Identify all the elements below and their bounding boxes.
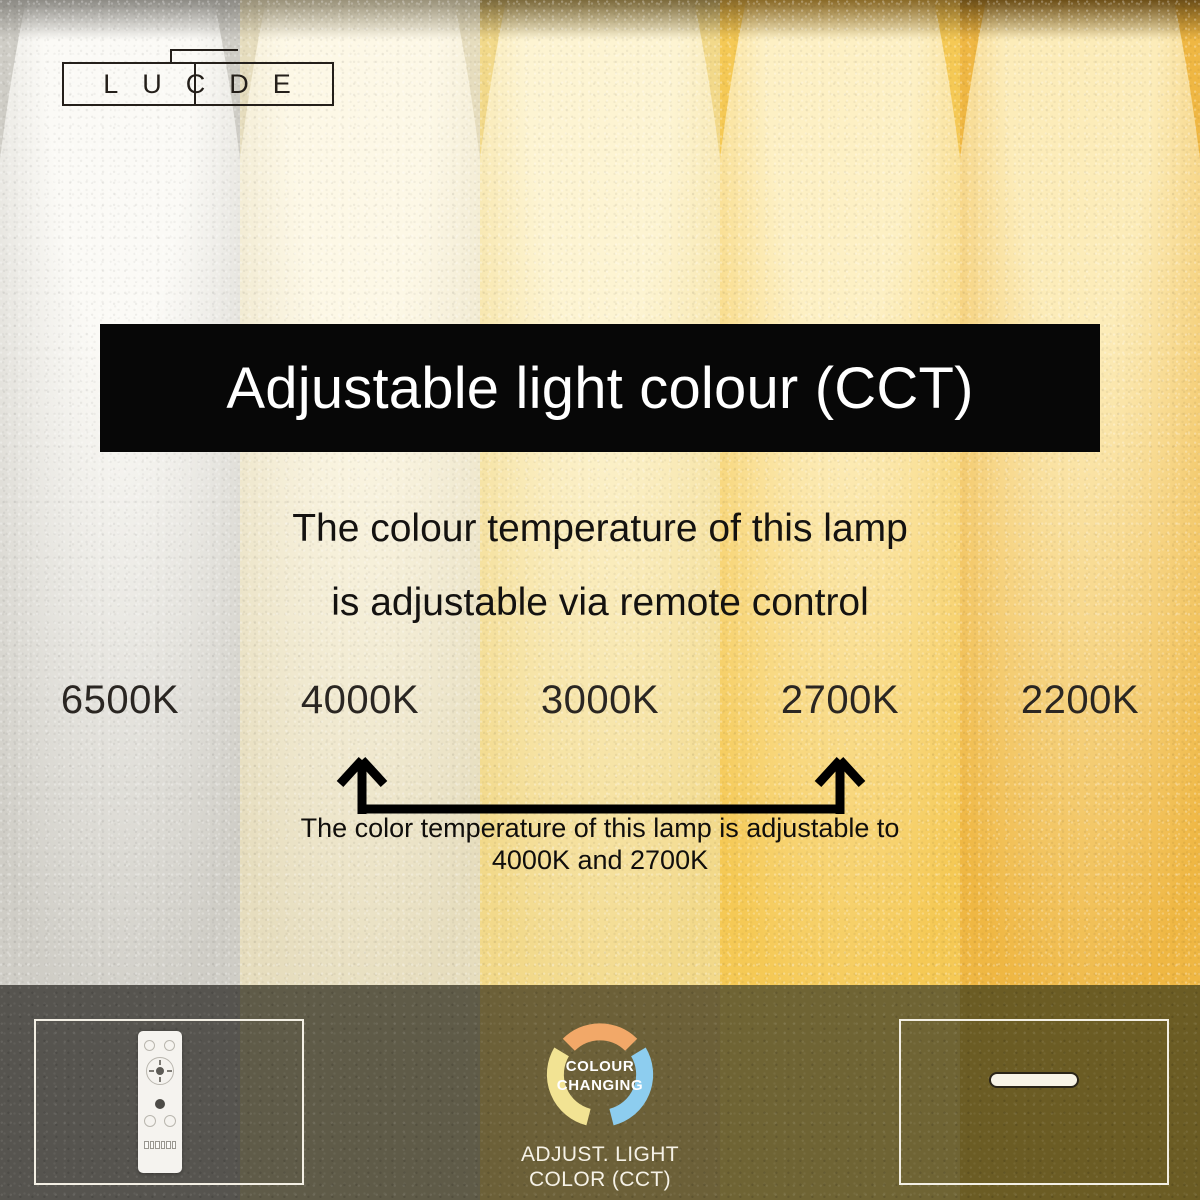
logo-letters: L U C D E — [62, 62, 334, 106]
remote-key — [155, 1141, 160, 1149]
remote-key — [172, 1141, 177, 1149]
kelvin-scale: 6500K 4000K 3000K 2700K 2200K — [0, 672, 1200, 728]
remote-key — [144, 1141, 149, 1149]
headline-banner: Adjustable light colour (CCT) — [100, 324, 1100, 452]
lucide-logo: L U C D E — [62, 62, 334, 106]
subtitle-line-1: The colour temperature of this lamp — [0, 492, 1200, 566]
kelvin-label-6500k: 6500K — [0, 672, 240, 728]
kelvin-label-4000k: 4000K — [240, 672, 480, 728]
remote-lower-right-button — [164, 1115, 176, 1127]
ring-text-line-2: CHANGING — [557, 1076, 643, 1095]
remote-mode-button — [164, 1040, 175, 1051]
page-title: Adjustable light colour (CCT) — [226, 355, 973, 422]
subtitle-block: The colour temperature of this lamp is a… — [0, 492, 1200, 640]
remote-plus-icon — [159, 1060, 161, 1065]
caption-block: The color temperature of this lamp is ad… — [0, 812, 1200, 876]
kelvin-label-2700k: 2700K — [720, 672, 960, 728]
logo-letter-l: L — [103, 69, 120, 100]
logo-letter-e: E — [273, 69, 293, 100]
remote-key — [166, 1141, 171, 1149]
logo-letter-d: D — [229, 69, 251, 100]
remote-key — [161, 1141, 166, 1149]
kelvin-label-2200k: 2200K — [960, 672, 1200, 728]
remote-control-icon — [138, 1031, 182, 1173]
caption-line-2: 4000K and 2700K — [0, 844, 1200, 876]
remote-right-icon — [167, 1070, 172, 1072]
remote-lower-left-button — [144, 1115, 156, 1127]
logo-letter-c: C — [186, 69, 208, 100]
ring-text-line-1: COLOUR — [566, 1057, 635, 1076]
subtitle-line-2: is adjustable via remote control — [0, 566, 1200, 640]
caption-line-1: The color temperature of this lamp is ad… — [0, 812, 1200, 844]
remote-power-button — [144, 1040, 155, 1051]
logo-letter-u: U — [142, 69, 164, 100]
remote-scene-button — [155, 1099, 165, 1109]
lamp-icon-panel — [899, 1019, 1169, 1185]
remote-key — [150, 1141, 155, 1149]
remote-dpad-center-button — [156, 1067, 164, 1075]
colour-changing-ring: COLOUR CHANGING — [538, 1014, 662, 1138]
ring-inner-text: COLOUR CHANGING — [538, 1014, 662, 1138]
badge-label: ADJUST. LIGHT COLOR (CCT) — [500, 1142, 700, 1192]
badge-label-line-1: ADJUST. LIGHT — [500, 1142, 700, 1167]
remote-keypad-row — [144, 1141, 176, 1149]
colour-changing-badge: COLOUR CHANGING ADJUST. LIGHT COLOR (CCT… — [500, 1014, 700, 1194]
linear-lamp-icon — [989, 1072, 1079, 1088]
kelvin-label-3000k: 3000K — [480, 672, 720, 728]
remote-left-icon — [149, 1070, 154, 1072]
badge-label-line-2: COLOR (CCT) — [500, 1167, 700, 1192]
logo-accent-bar — [170, 49, 238, 51]
remote-minus-icon — [159, 1077, 161, 1082]
range-bracket — [0, 740, 1200, 820]
